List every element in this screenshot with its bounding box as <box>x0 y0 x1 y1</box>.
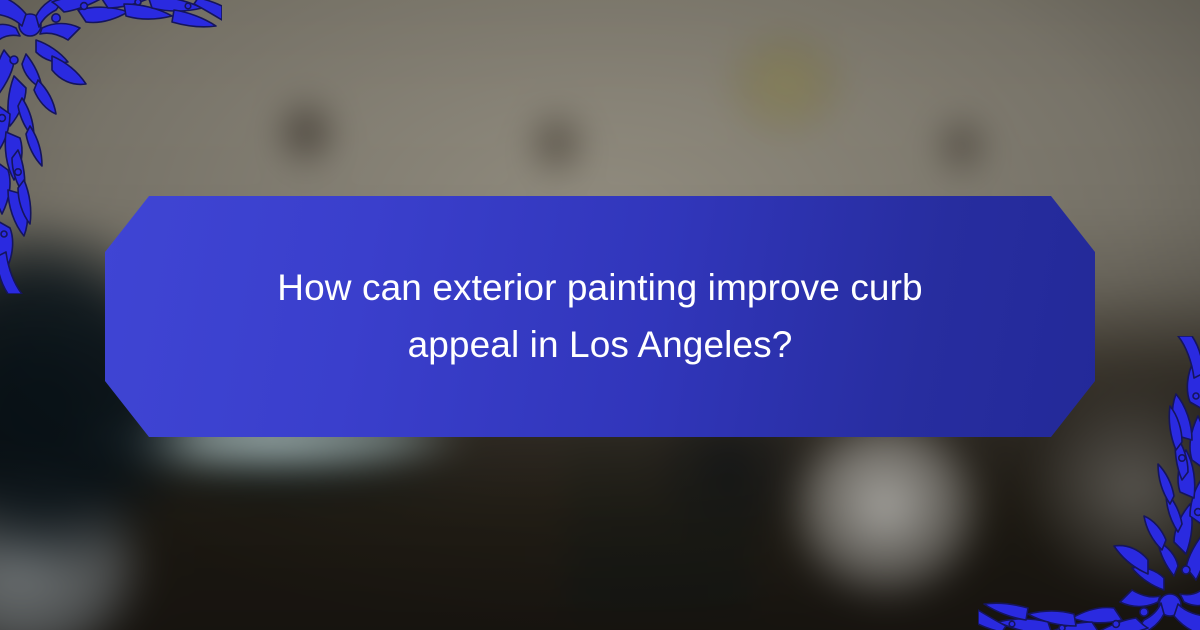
page-title: How can exterior painting improve curb a… <box>220 260 980 372</box>
headline-banner: How can exterior painting improve curb a… <box>105 196 1095 437</box>
social-card: How can exterior painting improve curb a… <box>0 0 1200 630</box>
